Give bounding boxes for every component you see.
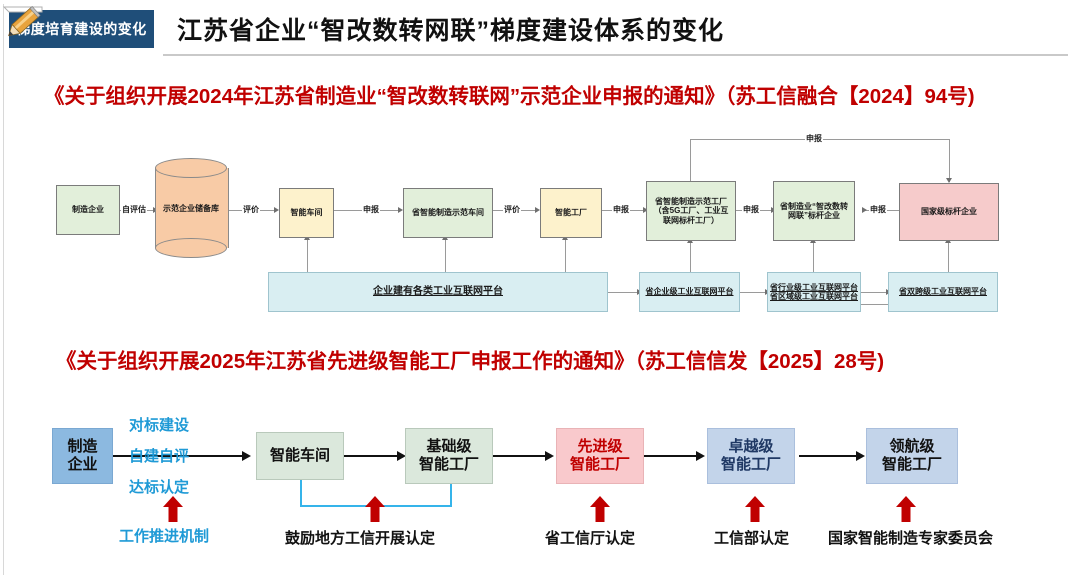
node-smart-shop-label: 智能车间 <box>291 208 323 217</box>
bottom-label-0: 鼓励地方工信开展认定 <box>285 527 435 548</box>
edge-entplat-provent <box>608 292 638 293</box>
edge-top-down <box>949 139 950 182</box>
node-smart-plant-label: 智能工厂 <box>555 208 587 217</box>
bottom-label-3: 国家智能制造专家委员会 <box>828 527 993 548</box>
edge2-shop-basic <box>344 455 398 457</box>
node-mfg-label: 制造企业 <box>72 205 104 214</box>
node-prov-bench-label: 省制造业“智改数转网联”标杆企业 <box>780 202 848 221</box>
node-prov-dual-plat[interactable]: 省双跨级工业互联网平台 <box>888 272 998 312</box>
edge-label-evaluate-1: 评价 <box>242 204 260 215</box>
edge2-excellent-pilot <box>799 455 857 457</box>
red-up-arrow-icon-1 <box>365 496 385 522</box>
arrowhead-natbench <box>862 207 867 213</box>
edge-top-up <box>690 139 691 181</box>
red-up-arrow-icon-4 <box>896 496 916 522</box>
riser-provplant <box>690 241 691 272</box>
riser-natbench <box>948 241 949 272</box>
slide-left-rule <box>3 4 4 575</box>
edge-label-self-assess: 自评估 <box>121 204 147 215</box>
riser-plant <box>565 238 566 272</box>
bottom-label-2: 工信部认定 <box>714 527 789 548</box>
node-prov-ind-plat[interactable]: 省行业级工业互联网平台省区域级工业互联网平台 <box>767 272 861 312</box>
node2-excellent-label: 卓越级智能工厂 <box>721 438 781 473</box>
node-prov-plant-label: 省智能制造示范工厂（含5G工厂、工业互联网标杆工厂） <box>654 197 729 225</box>
node-ent-platform[interactable]: 企业建有各类工业互联网平台 <box>268 272 608 312</box>
node-prov-plant[interactable]: 省智能制造示范工厂（含5G工厂、工业互联网标杆工厂） <box>646 181 736 241</box>
cyan-label-2: 达标认定 <box>129 476 189 497</box>
notice-heading-2024: 《关于组织开展2024年江苏省制造业“智改数转联网”示范企业申报的通知》（苏工信… <box>44 79 975 109</box>
edge-label-declare-1: 申报 <box>362 204 380 215</box>
node-prov-ind-plat-label: 省行业级工业互联网平台省区域级工业互联网平台 <box>770 283 858 302</box>
arrowhead2-advanced <box>545 451 554 461</box>
bottom-label-1: 省工信厅认定 <box>545 527 635 548</box>
node-reserve[interactable]: 示范企业储备库 <box>155 158 227 258</box>
notice-heading-2025: 《关于组织开展2025年江苏省先进级智能工厂申报工作的通知》（苏工信信发【202… <box>56 344 884 374</box>
node-prov-bench[interactable]: 省制造业“智改数转网联”标杆企业 <box>773 181 855 241</box>
node2-basic[interactable]: 基础级智能工厂 <box>405 428 493 484</box>
red-up-arrow-icon-3 <box>745 496 765 522</box>
edge-provent-provind <box>740 292 766 293</box>
edge-label-declare-4: 申报 <box>869 204 887 215</box>
node-mfg[interactable]: 制造企业 <box>56 185 120 235</box>
pencil-icon <box>2 5 48 45</box>
node-prov-ent-plat-label: 省企业级工业互联网平台 <box>646 287 734 296</box>
node2-mfg-label: 制造企业 <box>67 438 97 473</box>
edge2-basic-advanced <box>493 455 546 457</box>
node-reserve-label: 示范企业储备库 <box>155 158 227 258</box>
node-ent-platform-label: 企业建有各类工业互联网平台 <box>373 286 503 298</box>
edge2-advanced-excellent <box>644 455 697 457</box>
node-prov-shop[interactable]: 省智能制造示范车间 <box>403 188 493 238</box>
node2-basic-label: 基础级智能工厂 <box>419 438 479 473</box>
node-nat-bench[interactable]: 国家级标杆企业 <box>899 183 999 241</box>
page-title: 江苏省企业“智改数转网联”梯度建设体系的变化 <box>163 11 724 47</box>
node-prov-ent-plat[interactable]: 省企业级工业互联网平台 <box>639 272 740 312</box>
cyan-label-3: 工作推进机制 <box>119 525 209 546</box>
riser-provshop <box>445 238 446 272</box>
arrowhead2-shop <box>242 451 251 461</box>
node2-pilot[interactable]: 领航级智能工厂 <box>866 428 958 484</box>
node2-shop-label: 智能车间 <box>270 447 330 465</box>
slide-canvas: 梯度培育建设的变化 江苏省企业“智改数转网联”梯度建设体系的变化 《关于组织开展… <box>0 0 1080 579</box>
node2-advanced-label: 先进级智能工厂 <box>570 438 630 473</box>
node-prov-shop-label: 省智能制造示范车间 <box>412 208 484 217</box>
node2-excellent[interactable]: 卓越级智能工厂 <box>707 428 795 484</box>
cyan-label-0: 对标建设 <box>129 414 189 435</box>
riser-shop <box>307 238 308 272</box>
edge-label-evaluate-2: 评价 <box>503 204 521 215</box>
edge-provind-provdual <box>861 292 887 293</box>
edge-label-declare-3: 申报 <box>742 204 760 215</box>
node-smart-plant[interactable]: 智能工厂 <box>540 188 602 238</box>
edge-label-declare-top: 申报 <box>805 133 823 144</box>
red-up-arrow-icon-2 <box>590 496 610 522</box>
node2-shop[interactable]: 智能车间 <box>256 432 344 480</box>
node-smart-shop[interactable]: 智能车间 <box>279 188 334 238</box>
node2-pilot-label: 领航级智能工厂 <box>882 438 942 473</box>
node2-mfg[interactable]: 制造企业 <box>52 428 113 484</box>
node-prov-dual-plat-label: 省双跨级工业互联网平台 <box>899 287 987 296</box>
node-nat-bench-label: 国家级标杆企业 <box>921 207 977 216</box>
header-title-bar: 江苏省企业“智改数转网联”梯度建设体系的变化 <box>163 4 1068 56</box>
cyan-label-1: 自建自评 <box>129 445 189 466</box>
slide-header: 梯度培育建设的变化 江苏省企业“智改数转网联”梯度建设体系的变化 <box>0 4 1080 52</box>
riser-provbench <box>813 241 814 272</box>
edge-label-declare-2: 申报 <box>612 204 630 215</box>
arrowhead2-excellent <box>696 451 705 461</box>
arrowhead2-pilot <box>856 451 865 461</box>
node2-advanced[interactable]: 先进级智能工厂 <box>556 428 644 484</box>
red-up-arrow-icon-0 <box>163 496 183 522</box>
